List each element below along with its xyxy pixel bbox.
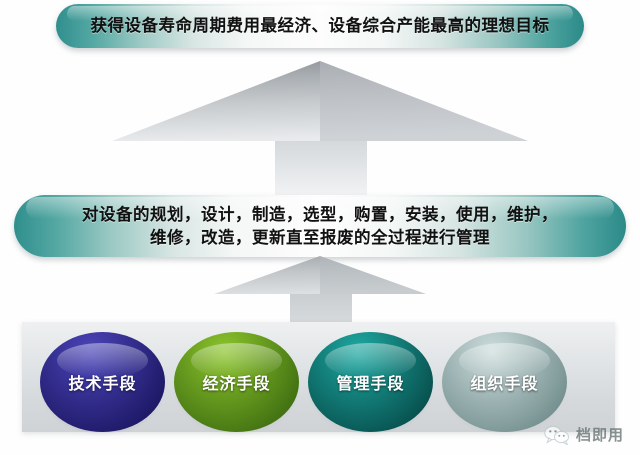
means-circle-economic[interactable]: 经济手段 [180, 338, 293, 426]
means-circle-label: 管理手段 [336, 370, 404, 394]
goal-banner-text: 获得设备寿命周期费用最经济、设备综合产能最高的理想目标 [56, 14, 584, 37]
scope-banner-body: 对设备的规划，设计，制造，选型，购置，安装，使用，维护， 维修，改造，更新直至报… [14, 203, 626, 250]
scope-banner: 对设备的规划，设计，制造，选型，购置，安装，使用，维护， 维修，改造，更新直至报… [14, 195, 626, 257]
big-up-arrow-icon [110, 55, 530, 205]
means-circle-technical[interactable]: 技术手段 [46, 338, 159, 426]
means-circle-organizational[interactable]: 组织手段 [448, 338, 561, 426]
watermark: 档即用 [544, 424, 624, 445]
wechat-icon [544, 425, 570, 445]
watermark-text: 档即用 [576, 424, 624, 445]
means-circle-label: 技术手段 [68, 370, 136, 394]
scope-banner-line2: 维修，改造，更新直至报废的全过程进行管理 [14, 226, 626, 249]
goal-banner: 获得设备寿命周期费用最经济、设备综合产能最高的理想目标 [56, 4, 584, 48]
diagram-canvas: 获得设备寿命周期费用最经济、设备综合产能最高的理想目标 [0, 0, 640, 455]
scope-banner-line1: 对设备的规划，设计，制造，选型，购置，安装，使用，维护， [14, 203, 626, 226]
means-circle-management[interactable]: 管理手段 [314, 338, 427, 426]
means-circle-label: 经济手段 [202, 370, 270, 394]
means-circle-label: 组织手段 [470, 370, 538, 394]
